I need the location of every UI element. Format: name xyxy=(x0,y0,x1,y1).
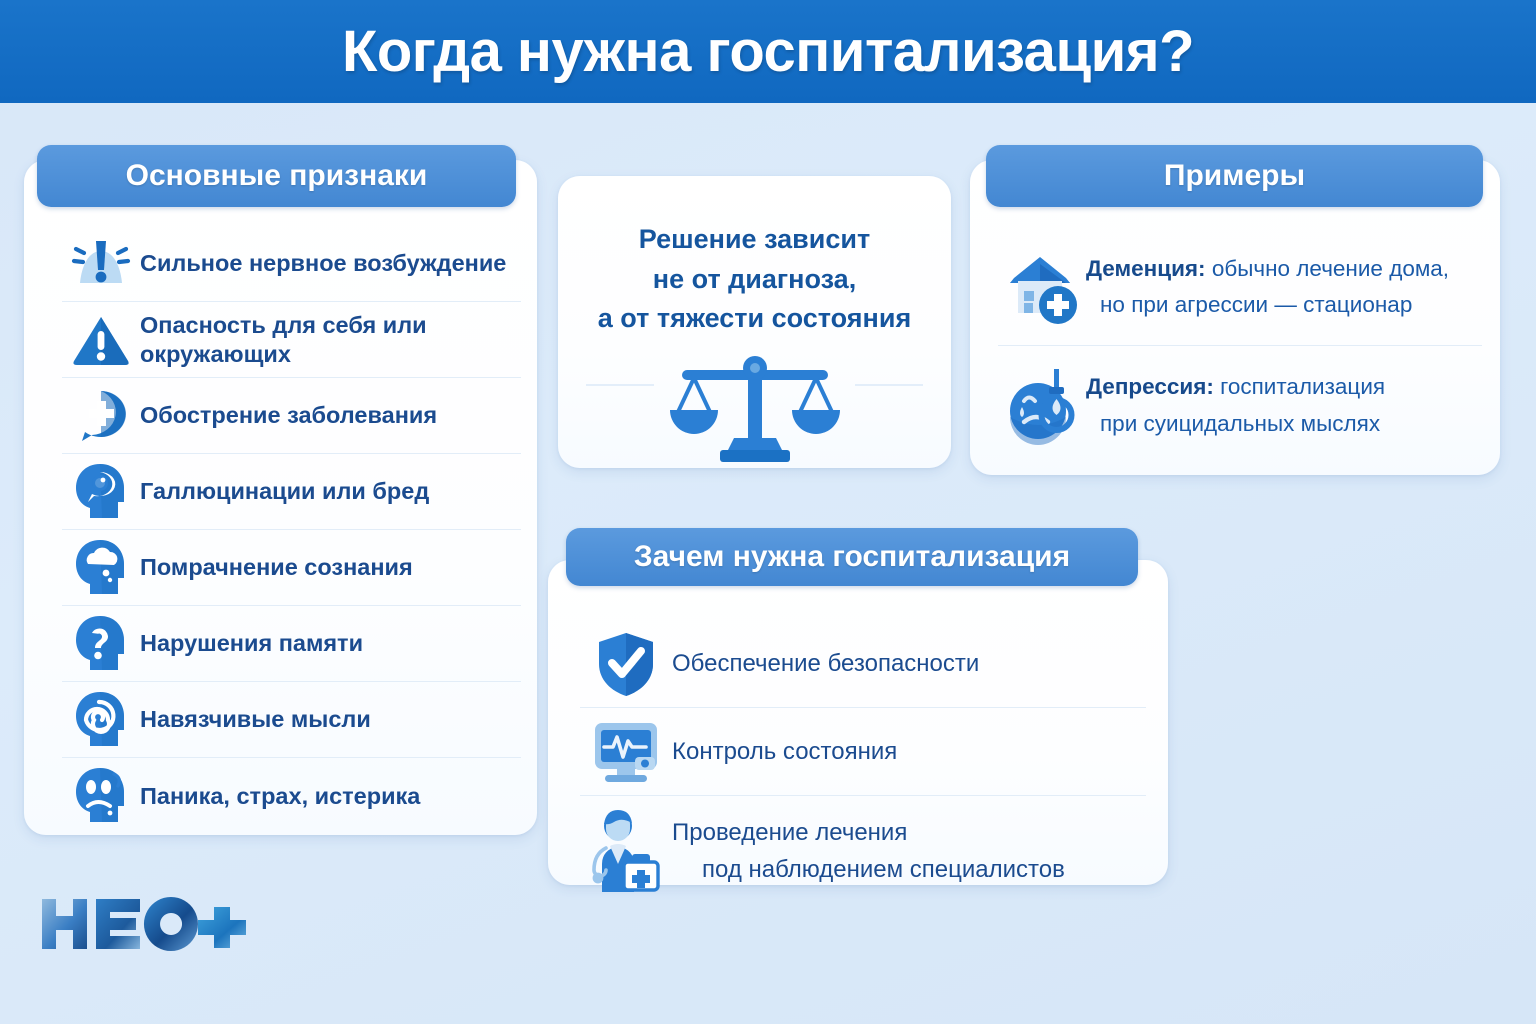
example-term: Депрессия: xyxy=(1086,374,1214,399)
statement-line-2: не от диагноза, xyxy=(558,260,951,300)
statement-line-3: а от тяжести состояния xyxy=(558,299,951,339)
house-medical-cross-icon xyxy=(998,242,1086,332)
exclamation-burst-icon xyxy=(62,233,140,295)
signs-panel-header: Основные признаки xyxy=(37,145,516,207)
list-item[interactable]: Проведение лечения под наблюдением специ… xyxy=(580,796,1146,906)
neo-plus-logo xyxy=(38,893,258,955)
sad-face-noose-icon xyxy=(998,360,1086,450)
list-item-label: Нарушения памяти xyxy=(140,629,363,658)
list-item[interactable]: Контроль состояния xyxy=(580,708,1146,796)
list-item-label: Опасность для себя или окружающих xyxy=(140,311,521,368)
head-cloud-icon xyxy=(62,537,140,599)
list-item-label: Галлюцинации или бред xyxy=(140,477,429,506)
example-text-1: госпитализация xyxy=(1214,374,1385,399)
list-item[interactable]: Сильное нервное возбуждение xyxy=(62,226,521,302)
why-panel: Обеспечение безопасности Контроль состоя… xyxy=(548,560,1168,885)
list-item[interactable]: Навязчивые мысли xyxy=(62,682,521,758)
list-item[interactable]: Опасность для себя или окружающих xyxy=(62,302,521,378)
list-item-label: Проведение лечения под наблюдением специ… xyxy=(672,818,1065,885)
head-question-mark-icon xyxy=(62,613,140,675)
list-item-label: Обострение заболевания xyxy=(140,401,437,430)
example-term: Деменция: xyxy=(1086,256,1206,281)
head-panic-face-icon xyxy=(62,765,140,827)
list-item-label: Паника, страх, истерика xyxy=(140,782,420,811)
why-panel-title: Зачем нужна госпитализация xyxy=(634,540,1070,574)
page-header: Когда нужна госпитализация? xyxy=(0,0,1536,103)
list-item-label: Навязчивые мысли xyxy=(140,705,371,734)
warning-triangle-icon xyxy=(62,309,140,371)
statement-text: Решение зависит не от диагноза, а от тяж… xyxy=(558,220,951,339)
examples-panel-header: Примеры xyxy=(986,145,1483,207)
statement-card: Решение зависит не от диагноза, а от тяж… xyxy=(558,176,951,468)
head-eye-bubble-icon xyxy=(62,461,140,523)
list-item-label: Сильное нервное возбуждение xyxy=(140,249,506,278)
list-item[interactable]: Обеспечение безопасности xyxy=(580,620,1146,708)
page-title: Когда нужна госпитализация? xyxy=(342,18,1194,85)
shield-check-icon xyxy=(580,628,672,700)
example-text-1: обычно лечение дома, xyxy=(1206,256,1450,281)
example-text-2: при суицидальных мыслях xyxy=(1100,410,1385,437)
list-item[interactable]: Деменция: обычно лечение дома, но при аг… xyxy=(998,228,1482,346)
list-item[interactable]: Депрессия: госпитализация при суицидальн… xyxy=(998,346,1482,464)
list-item[interactable]: Галлюцинации или бред xyxy=(62,454,521,530)
why-text-line-1: Проведение лечения xyxy=(672,819,907,846)
signs-panel: Сильное нервное возбуждение Опасность дл… xyxy=(24,160,537,835)
statement-line-1: Решение зависит xyxy=(558,220,951,260)
medical-cross-bubble-icon xyxy=(62,385,140,447)
list-item[interactable]: Нарушения памяти xyxy=(62,606,521,682)
why-panel-header: Зачем нужна госпитализация xyxy=(566,528,1138,586)
list-item-label: Депрессия: госпитализация при суицидальн… xyxy=(1086,373,1385,437)
list-item-label: Обеспечение безопасности xyxy=(672,649,979,678)
head-spiral-icon xyxy=(62,689,140,751)
why-text-line-2: под наблюдением специалистов xyxy=(702,855,1065,884)
examples-list: Деменция: обычно лечение дома, но при аг… xyxy=(998,228,1482,464)
examples-panel: Деменция: обычно лечение дома, но при аг… xyxy=(970,160,1500,475)
signs-panel-title: Основные признаки xyxy=(126,159,428,193)
balance-scales-icon xyxy=(660,346,850,464)
list-item-label: Помрачнение сознания xyxy=(140,553,413,582)
examples-panel-title: Примеры xyxy=(1164,159,1305,193)
scales-wrapper xyxy=(558,346,951,464)
example-text-2: но при агрессии — стационар xyxy=(1100,291,1449,318)
ecg-monitor-icon xyxy=(580,716,672,788)
list-item[interactable]: Обострение заболевания xyxy=(62,378,521,454)
list-item[interactable]: Помрачнение сознания xyxy=(62,530,521,606)
why-list: Обеспечение безопасности Контроль состоя… xyxy=(580,620,1146,906)
list-item-label: Деменция: обычно лечение дома, но при аг… xyxy=(1086,255,1449,319)
doctor-medical-bag-icon xyxy=(580,815,672,887)
list-item-label: Контроль состояния xyxy=(672,737,897,766)
list-item[interactable]: Паника, страх, истерика xyxy=(62,758,521,834)
signs-list: Сильное нервное возбуждение Опасность дл… xyxy=(62,226,521,834)
